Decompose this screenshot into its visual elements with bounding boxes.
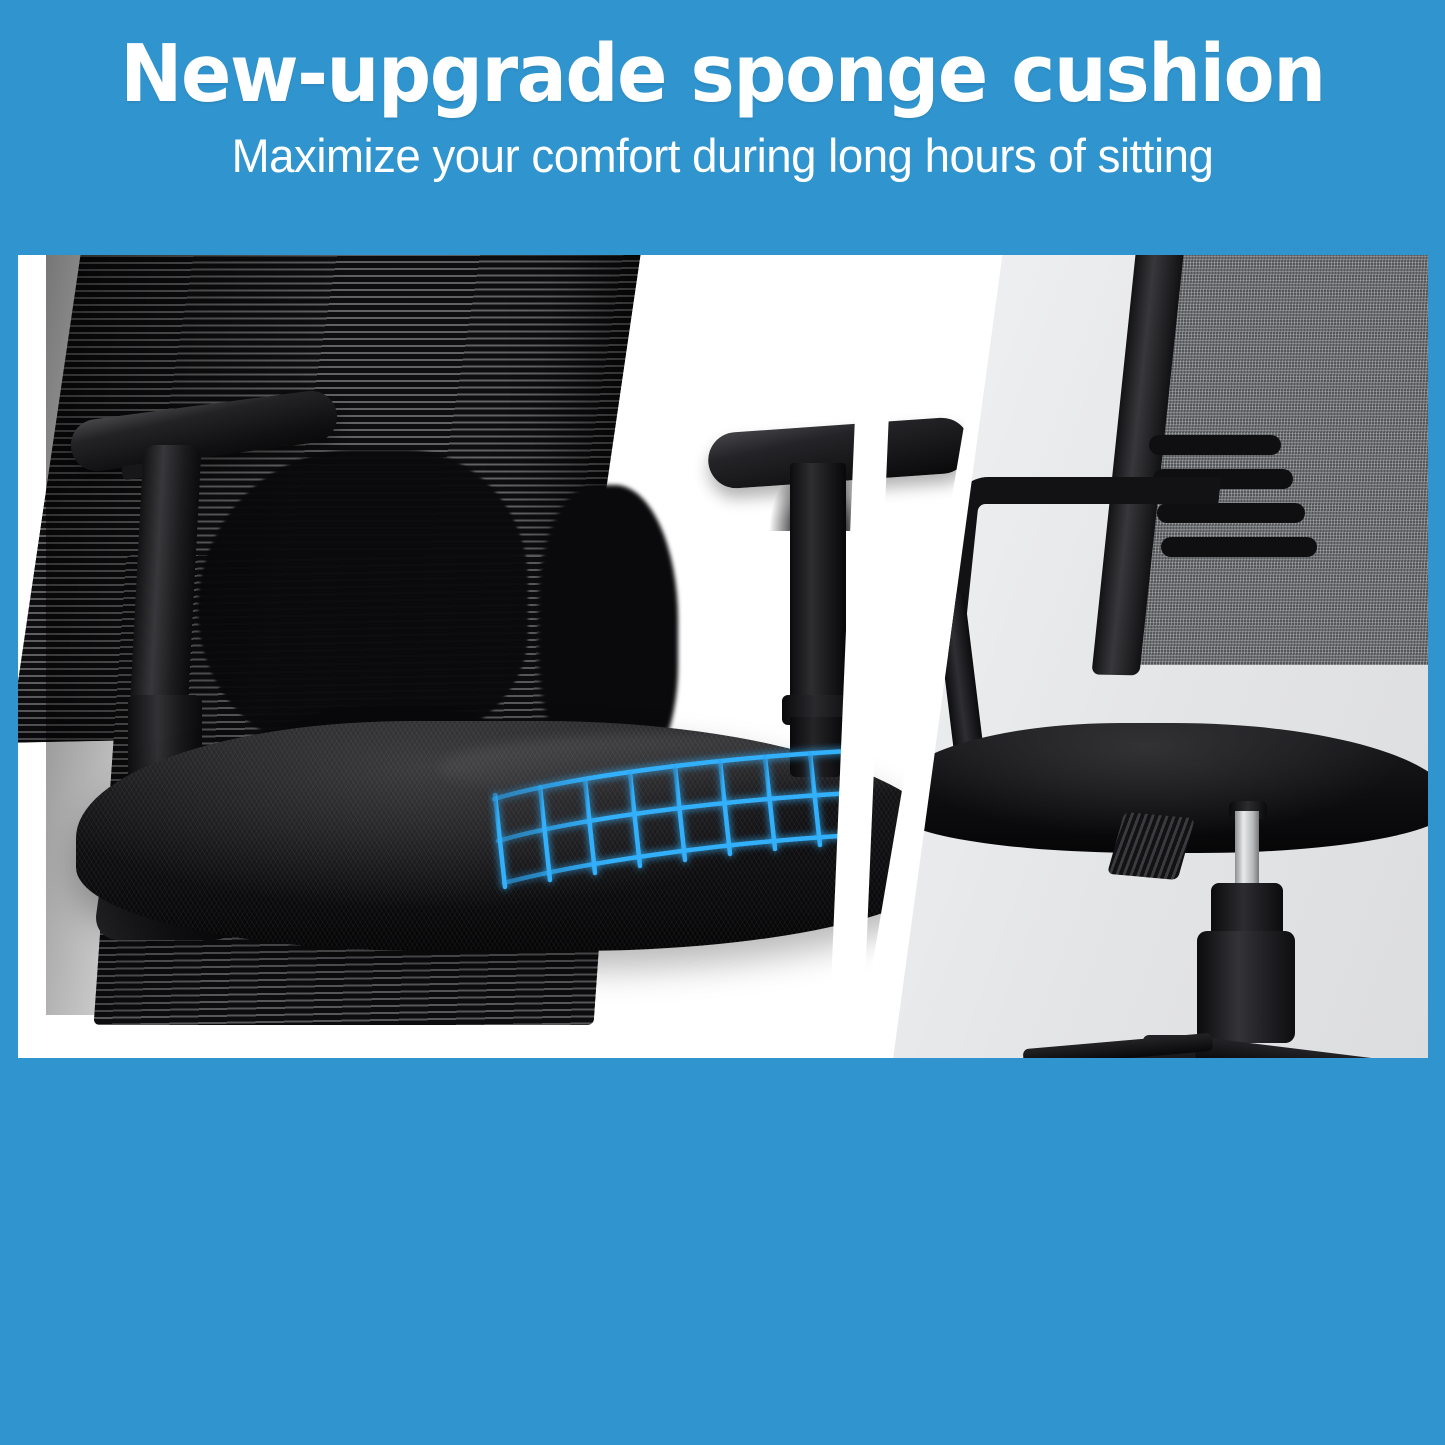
lumbar-support-panel xyxy=(198,450,528,750)
page-title: New-upgrade sponge cushion xyxy=(43,28,1401,120)
right-armrest-post xyxy=(790,463,846,701)
comparison-section: OURS OTHERS Cushions made of high-densit… xyxy=(0,1060,1445,1445)
page-subtitle: Maximize your comfort during long hours … xyxy=(22,128,1424,183)
product-feature-graphic: New-upgrade sponge cushion Maximize your… xyxy=(0,0,1445,1445)
inset-gas-cylinder xyxy=(1235,811,1259,891)
header-band: New-upgrade sponge cushion Maximize your… xyxy=(0,0,1445,210)
photo-band xyxy=(18,255,1428,1058)
inset-armrest-loop xyxy=(936,477,1222,654)
inset-backrest-rib-1 xyxy=(1149,435,1281,455)
inset-base-leg-right xyxy=(1195,1037,1428,1058)
inset-star-base xyxy=(853,1015,1428,1058)
